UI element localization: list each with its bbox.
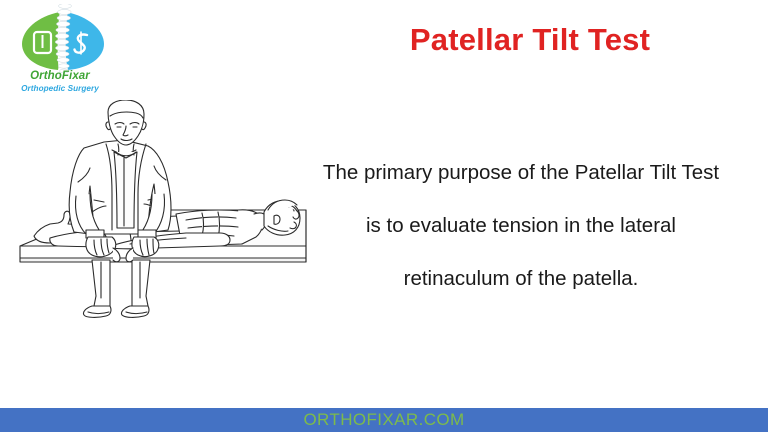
description-line-1: The primary purpose of the Patellar Tilt… xyxy=(282,146,760,199)
brand-logo[interactable]: OrthoFixar Orthopedic Surgery xyxy=(8,4,118,104)
description-line-3: retinaculum of the patella. xyxy=(282,252,760,305)
illustration-svg xyxy=(6,100,316,318)
patellar-tilt-test-illustration xyxy=(6,100,316,318)
logo-leaf-blue-icon xyxy=(65,12,104,70)
logo-mark-svg xyxy=(8,4,118,76)
orthofixar-logo-mark xyxy=(8,4,118,76)
description-text: The primary purpose of the Patellar Tilt… xyxy=(282,146,760,305)
site-footer: ORTHOFIXAR.COM xyxy=(0,408,768,432)
brand-name: OrthoFixar xyxy=(8,70,112,83)
page-title: Patellar Tilt Test xyxy=(310,22,750,58)
description-line-2: is to evaluate tension in the lateral xyxy=(282,199,760,252)
examiner-hand-right xyxy=(132,237,159,257)
examiner-figure xyxy=(69,100,171,317)
brand-tagline: Orthopedic Surgery xyxy=(8,84,112,94)
footer-website-url[interactable]: ORTHOFIXAR.COM xyxy=(303,410,464,430)
